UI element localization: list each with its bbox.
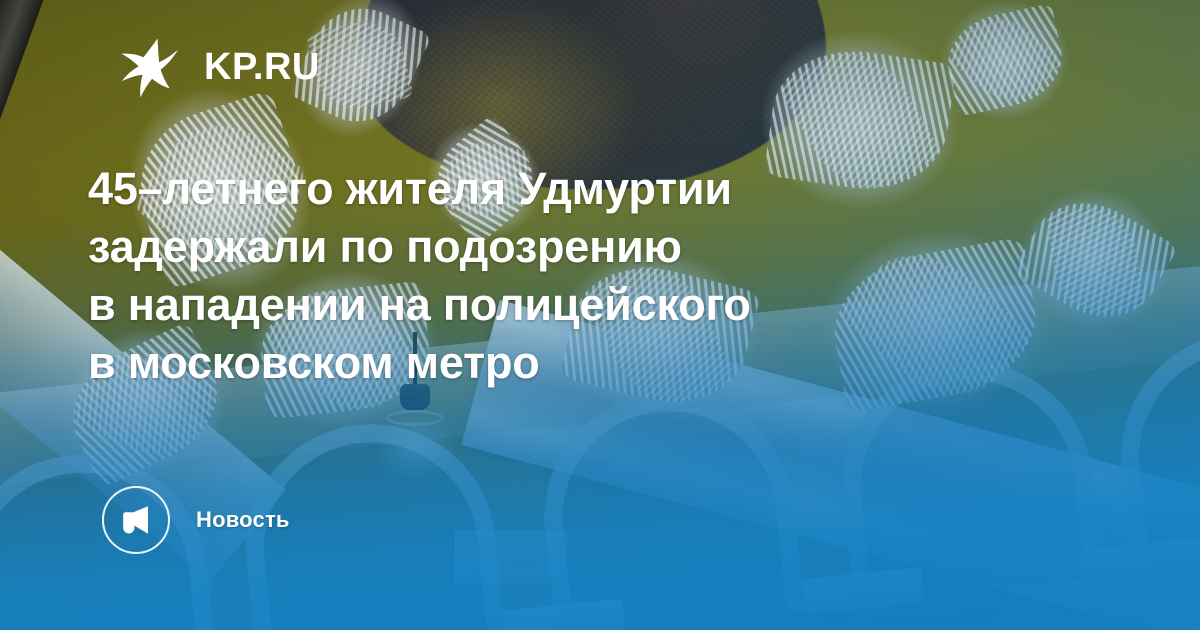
brand-name: KP.RU: [204, 48, 320, 86]
page-title: 45–летнего жителя Удмуртии задержали по …: [88, 160, 988, 392]
headline-line: 45–летнего жителя Удмуртии: [88, 160, 988, 218]
megaphone-icon: [119, 503, 153, 537]
brand-logo[interactable]: KP.RU: [112, 36, 320, 98]
headline-line: задержали по подозрению: [88, 218, 988, 276]
badge-icon-circle: [102, 486, 170, 554]
badge-label: Новость: [196, 507, 290, 533]
card-content: KP.RU 45–летнего жителя Удмуртии задержа…: [0, 0, 1200, 630]
headline-line: в нападении на полицейского: [88, 276, 988, 334]
swallow-bird-icon: [112, 36, 182, 98]
news-share-card: SUPER LOVE RADIO KP.RU 45–летнего жителя…: [0, 0, 1200, 630]
status-badge[interactable]: Новость: [102, 486, 290, 554]
headline-line: в московском метро: [88, 334, 988, 392]
